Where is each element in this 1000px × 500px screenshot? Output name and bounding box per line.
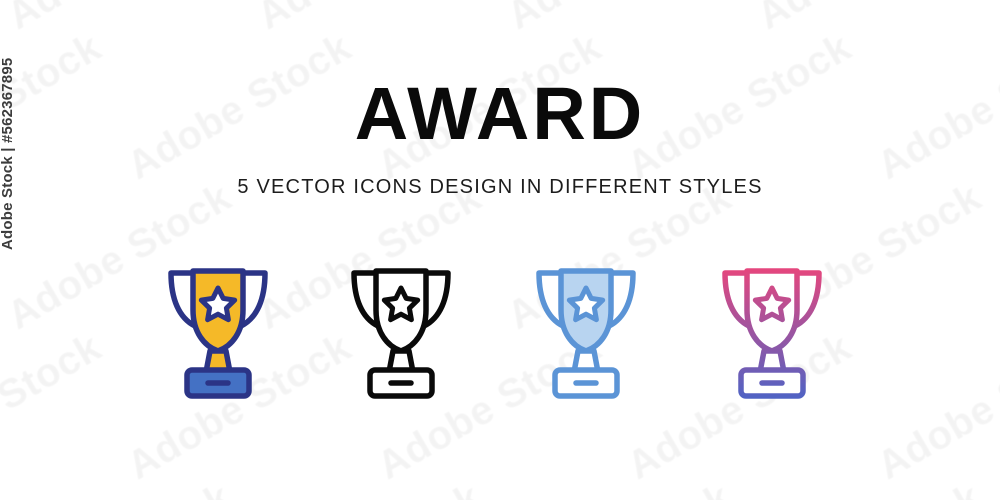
page-subtitle: 5 VECTOR ICONS DESIGN IN DIFFERENT STYLE… <box>0 175 1000 199</box>
adobe-stock-credit-vertical: Adobe Stock | #562367895 <box>0 58 16 250</box>
award-trophy-gradient-icon <box>714 252 830 402</box>
watermark-tile: Adobe Stock <box>250 0 489 39</box>
watermark-tile: Adobe Stock <box>750 475 989 500</box>
icon-variant-duotone[interactable] <box>511 252 661 402</box>
watermark-tile: Adobe Stock <box>0 475 239 500</box>
watermark-tile: Adobe Stock <box>750 0 989 39</box>
watermark-tile: Adobe Stock <box>250 475 489 500</box>
watermark-tile: Adobe Stock <box>500 475 739 500</box>
award-trophy-duotone-blue-icon <box>528 252 644 402</box>
page-title: AWARD <box>0 72 1000 156</box>
icon-sheet-canvas: Adobe StockAdobe StockAdobe StockAdobe S… <box>0 0 1000 500</box>
watermark-tile: Adobe Stock <box>500 0 739 39</box>
icon-variant-gradient[interactable] <box>697 252 847 402</box>
watermark-tile: Adobe Stock <box>0 0 239 39</box>
icon-variant-outline[interactable] <box>326 252 476 402</box>
icon-variant-row <box>0 252 1000 412</box>
award-trophy-outline-icon <box>343 252 459 402</box>
award-trophy-filled-icon <box>160 252 276 402</box>
icon-variant-filled[interactable] <box>143 252 293 402</box>
